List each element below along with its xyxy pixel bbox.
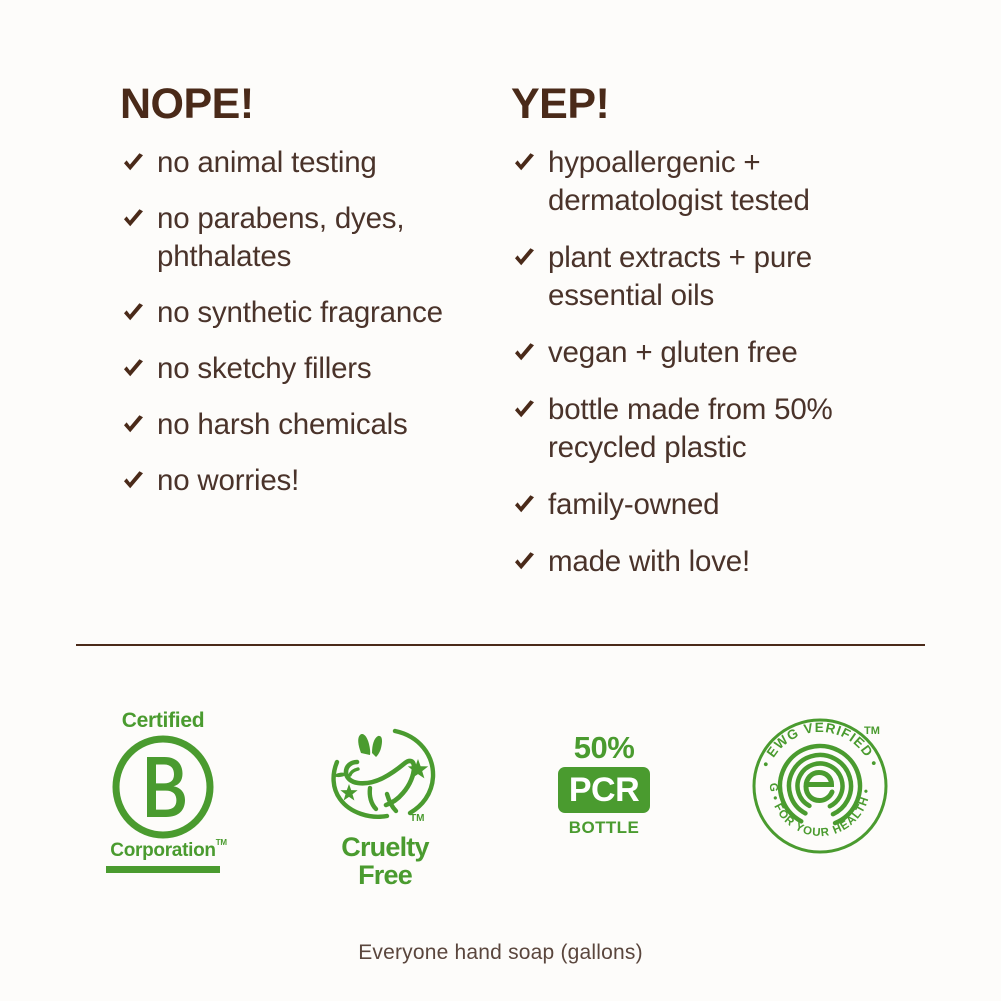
claim-text: family-owned bbox=[548, 486, 911, 524]
claim-text: made with love! bbox=[548, 543, 911, 581]
list-item: family-owned bbox=[511, 486, 911, 524]
section-divider bbox=[76, 644, 925, 646]
claim-text: hypoallergenic + dermatologist tested bbox=[548, 144, 911, 220]
trademark-icon: TM bbox=[410, 813, 424, 824]
list-item: no synthetic fragrance bbox=[120, 294, 500, 332]
claims-list-nope: no animal testing no parabens, dyes, pht… bbox=[120, 144, 500, 500]
checkmark-icon bbox=[513, 248, 536, 268]
checkmark-icon bbox=[513, 552, 536, 572]
checkmark-icon bbox=[122, 359, 145, 379]
badge-pcr-bottle: 50% PCR BOTTLE bbox=[556, 732, 652, 837]
list-item: no sketchy fillers bbox=[120, 350, 500, 388]
claim-text: plant extracts + pure essential oils bbox=[548, 239, 911, 315]
claim-text: no worries! bbox=[157, 462, 500, 500]
list-item: made with love! bbox=[511, 543, 911, 581]
checkmark-icon bbox=[513, 495, 536, 515]
checkmark-icon bbox=[122, 153, 145, 173]
badge-cruelty-free: TM Cruelty Free bbox=[312, 722, 458, 889]
b-corp-certified-label: Certified bbox=[100, 710, 226, 732]
trademark-icon: TM bbox=[216, 839, 227, 847]
leaping-bunny-icon: TM bbox=[312, 722, 458, 831]
list-item: vegan + gluten free bbox=[511, 334, 911, 372]
pcr-percent-label: 50% bbox=[556, 732, 652, 764]
pcr-mark-label: PCR bbox=[569, 773, 639, 807]
claim-text: no animal testing bbox=[157, 144, 500, 182]
column-heading-nope: NOPE! bbox=[120, 82, 500, 126]
ewg-verified-seal-icon: • EWG VERIFIED • EWG.ORG • FOR YOUR HEAL… bbox=[745, 712, 895, 865]
b-corp-mark-icon bbox=[100, 735, 226, 839]
list-item: bottle made from 50% recycled plastic bbox=[511, 391, 911, 467]
list-item: no worries! bbox=[120, 462, 500, 500]
list-item: no animal testing bbox=[120, 144, 500, 182]
claim-text: vegan + gluten free bbox=[548, 334, 911, 372]
product-caption: Everyone hand soap (gallons) bbox=[0, 940, 1001, 966]
list-item: no harsh chemicals bbox=[120, 406, 500, 444]
b-corp-underline-bar bbox=[106, 866, 220, 873]
checkmark-icon bbox=[513, 153, 536, 173]
checkmark-icon bbox=[122, 303, 145, 323]
checkmark-icon bbox=[122, 209, 145, 229]
list-item: no parabens, dyes, phthalates bbox=[120, 200, 500, 276]
claims-column-yep: YEP! hypoallergenic + dermatologist test… bbox=[511, 82, 911, 600]
cruelty-free-label: Cruelty Free bbox=[312, 833, 458, 889]
b-corp-corporation-label: CorporationTM bbox=[110, 841, 215, 861]
checkmark-icon bbox=[122, 415, 145, 435]
claim-text: no parabens, dyes, phthalates bbox=[157, 200, 500, 276]
badge-b-corporation: Certified CorporationTM bbox=[100, 710, 226, 873]
checkmark-icon bbox=[513, 400, 536, 420]
trademark-icon: TM bbox=[864, 725, 880, 737]
claims-list-yep: hypoallergenic + dermatologist tested pl… bbox=[511, 144, 911, 581]
certification-badges: Certified CorporationTM bbox=[0, 700, 1001, 880]
claim-text: no sketchy fillers bbox=[157, 350, 500, 388]
claims-columns: NOPE! no animal testing no parabens, dye… bbox=[0, 0, 1001, 620]
product-claims-infographic: NOPE! no animal testing no parabens, dye… bbox=[0, 0, 1001, 1001]
list-item: plant extracts + pure essential oils bbox=[511, 239, 911, 315]
column-heading-yep: YEP! bbox=[511, 82, 911, 126]
claims-column-nope: NOPE! no animal testing no parabens, dye… bbox=[120, 82, 500, 518]
checkmark-icon bbox=[513, 343, 536, 363]
pcr-bottle-label: BOTTLE bbox=[556, 819, 652, 837]
claim-text: no synthetic fragrance bbox=[157, 294, 500, 332]
b-corp-corporation-text: Corporation bbox=[110, 840, 215, 861]
claim-text: no harsh chemicals bbox=[157, 406, 500, 444]
pcr-mark-icon: PCR bbox=[558, 767, 650, 813]
list-item: hypoallergenic + dermatologist tested bbox=[511, 144, 911, 220]
badge-ewg-verified: • EWG VERIFIED • EWG.ORG • FOR YOUR HEAL… bbox=[745, 712, 895, 865]
claim-text: bottle made from 50% recycled plastic bbox=[548, 391, 911, 467]
checkmark-icon bbox=[122, 471, 145, 491]
